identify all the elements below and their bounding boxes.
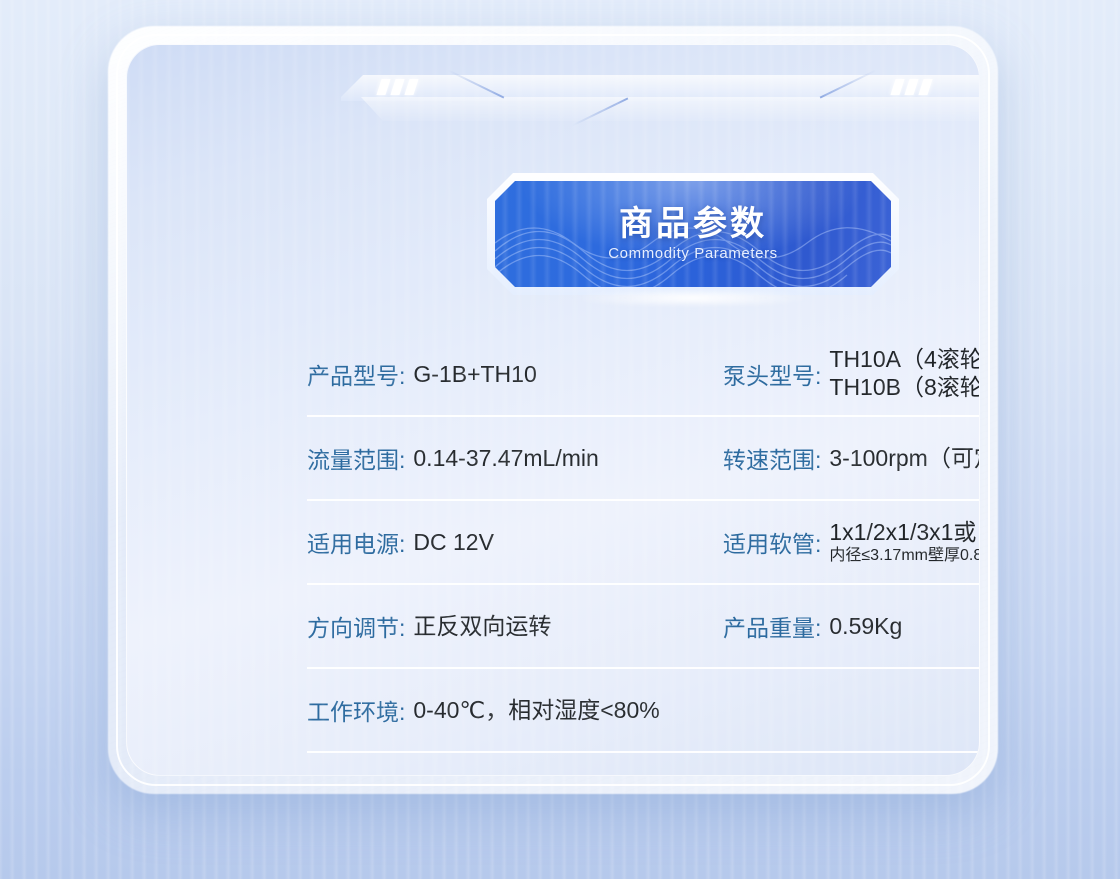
section-banner: 商品参数 Commodity Parameters	[487, 173, 899, 295]
tech-plate-lower	[361, 97, 980, 121]
spec-label: 工作环境:	[307, 693, 405, 727]
table-row: 适用电源: DC 12V 适用软管: 1x1/2x1/3x1或 内径≤3.17m…	[307, 501, 980, 585]
tech-diagonal-line	[820, 70, 877, 99]
spec-value: 3-100rpm	[829, 444, 927, 473]
spec-value: 0.59Kg	[829, 612, 902, 641]
spec-label: 产品重量:	[723, 609, 821, 643]
spec-cell-flow-range: 流量范围: 0.14-37.47mL/min	[307, 441, 723, 475]
parameters-card: 商品参数 Commodity Parameters 产品型号: G-1B+TH1…	[126, 44, 980, 776]
tech-bars-left-icon	[379, 79, 416, 95]
spec-cell-speed-range: 转速范围: 3-100rpm （可定制）	[723, 441, 980, 475]
spec-label: 转速范围:	[723, 441, 821, 475]
spec-value: TH10A（4滚轮） TH10B（8滚轮）	[829, 346, 980, 401]
table-row: 产品型号: G-1B+TH10 泵头型号: TH10A（4滚轮） TH10B（8…	[307, 333, 980, 417]
spec-cell-tubing: 适用软管: 1x1/2x1/3x1或 内径≤3.17mm壁厚0.86-1mm	[723, 519, 980, 566]
spec-cell-environment: 工作环境: 0-40℃，相对湿度<80%	[307, 693, 723, 727]
tech-diagonal-line	[448, 70, 505, 99]
spec-value: 1x1/2x1/3x1或 内径≤3.17mm壁厚0.86-1mm	[829, 519, 980, 566]
spec-value: 正反双向运转	[413, 612, 551, 641]
spec-value: DC 12V	[413, 528, 494, 557]
tech-plate-upper	[341, 75, 980, 101]
spec-value: G-1B+TH10	[413, 360, 536, 389]
spec-value-line2: 内径≤3.17mm壁厚0.86-1mm	[829, 546, 980, 565]
banner-underglow	[527, 291, 859, 305]
spec-cell-direction: 方向调节: 正反双向运转	[307, 609, 723, 643]
spec-cell-pump-head: 泵头型号: TH10A（4滚轮） TH10B（8滚轮）	[723, 346, 980, 401]
spec-label: 适用电源:	[307, 525, 405, 559]
spec-value-note: （可定制）	[928, 444, 980, 473]
banner-title-cn: 商品参数	[619, 206, 767, 243]
spec-cell-power-supply: 适用电源: DC 12V	[307, 525, 723, 559]
spec-value: 0.14-37.47mL/min	[413, 444, 598, 473]
banner-title-en: Commodity Parameters	[608, 245, 778, 262]
spec-label: 适用软管:	[723, 525, 821, 559]
spec-value: 0-40℃，相对湿度<80%	[413, 696, 659, 725]
table-row: 方向调节: 正反双向运转 产品重量: 0.59Kg	[307, 585, 980, 669]
spec-value-line1: 1x1/2x1/3x1或	[829, 519, 980, 547]
tech-bars-right-icon	[893, 79, 930, 95]
table-row: 工作环境: 0-40℃，相对湿度<80%	[307, 669, 980, 753]
tech-decoration	[341, 67, 980, 125]
spec-label: 方向调节:	[307, 609, 405, 643]
spec-label: 泵头型号:	[723, 357, 821, 391]
spec-cell-weight: 产品重量: 0.59Kg	[723, 609, 980, 643]
tech-diagonal-line	[572, 98, 629, 127]
table-row: 流量范围: 0.14-37.47mL/min 转速范围: 3-100rpm （可…	[307, 417, 980, 501]
specs-table: 产品型号: G-1B+TH10 泵头型号: TH10A（4滚轮） TH10B（8…	[307, 333, 980, 753]
spec-value-line1: TH10A（4滚轮）	[829, 346, 980, 374]
spec-label: 产品型号:	[307, 357, 405, 391]
spec-cell-model: 产品型号: G-1B+TH10	[307, 357, 723, 391]
banner-body: 商品参数 Commodity Parameters	[495, 181, 891, 287]
spec-label: 流量范围:	[307, 441, 405, 475]
spec-value-line2: TH10B（8滚轮）	[829, 374, 980, 402]
